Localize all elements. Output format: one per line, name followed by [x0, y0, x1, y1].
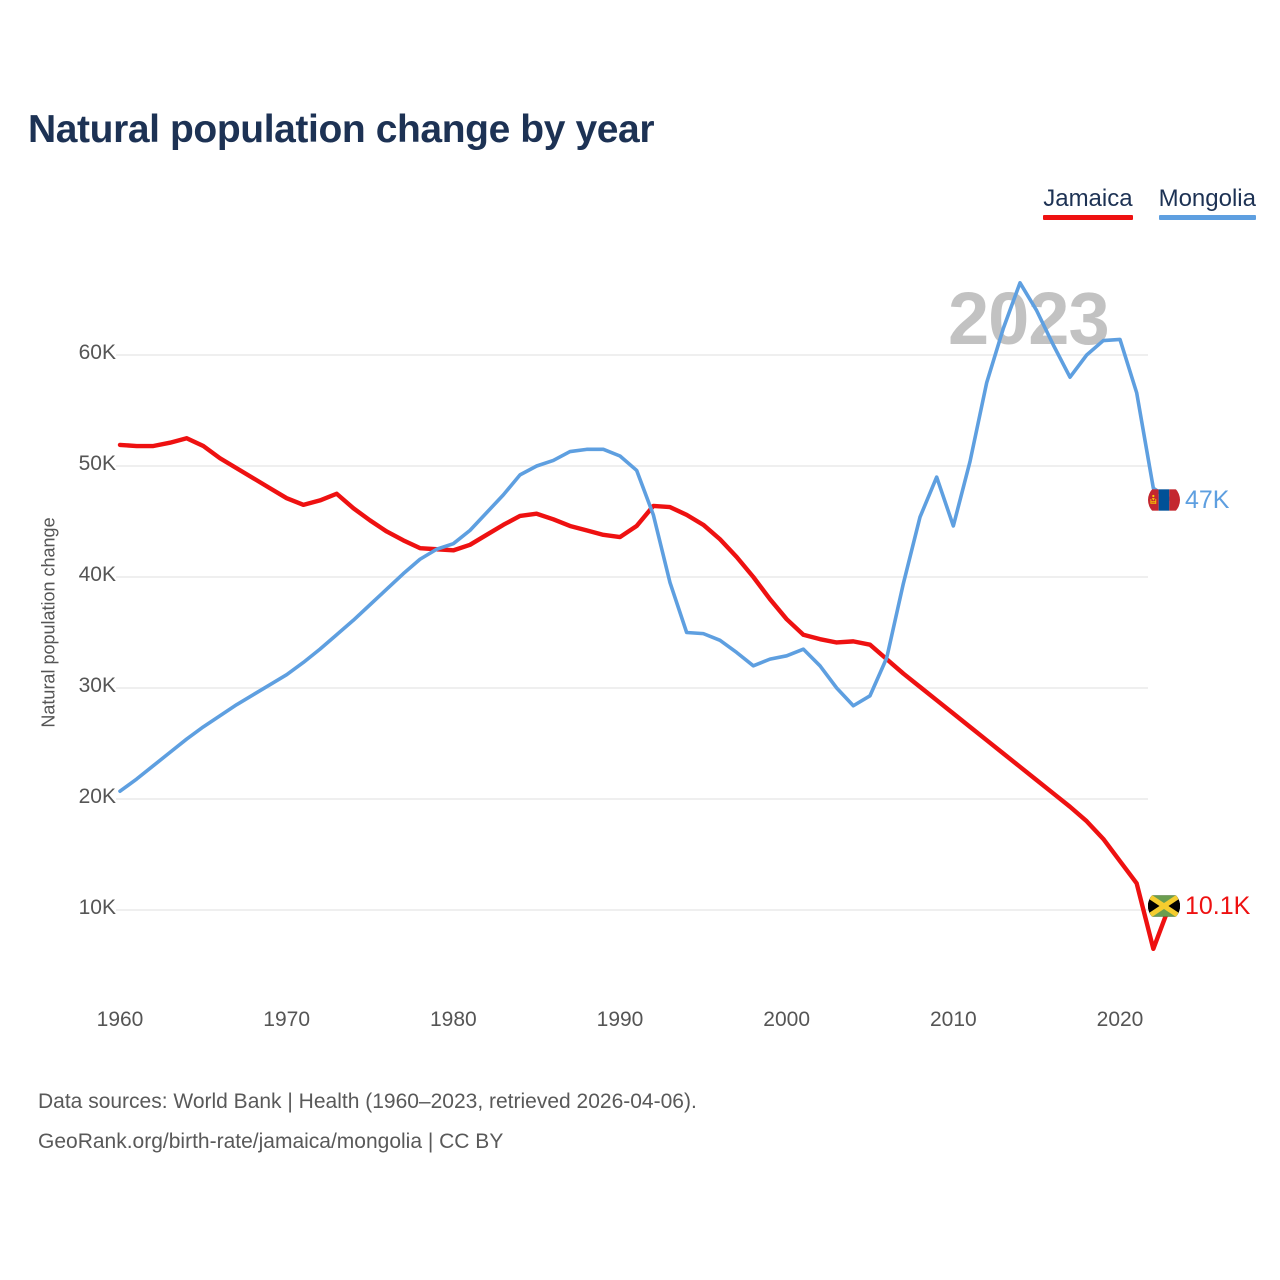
x-tick-2010: 2010	[930, 1008, 977, 1032]
y-tick-20K: 20K	[79, 785, 116, 809]
legend-swatch-jamaica	[1043, 215, 1132, 220]
x-tick-1990: 1990	[597, 1008, 644, 1032]
legend-label-mongolia: Mongolia	[1159, 186, 1256, 212]
footer-attribution: GeoRank.org/birth-rate/jamaica/mongolia …	[38, 1122, 697, 1162]
jamaica-flag-icon	[1148, 890, 1180, 922]
legend-swatch-mongolia	[1159, 215, 1256, 220]
legend-item-mongolia[interactable]: Mongolia	[1159, 186, 1256, 220]
series-line-jamaica	[120, 438, 1170, 949]
page-title: Natural population change by year	[28, 108, 654, 152]
x-axis-ticks: 1960197019801990200020102020	[0, 1008, 1280, 1048]
y-tick-10K: 10K	[79, 896, 116, 920]
y-axis-title: Natural population change	[39, 508, 60, 738]
x-tick-1980: 1980	[430, 1008, 477, 1032]
footer: Data sources: World Bank | Health (1960–…	[38, 1082, 697, 1162]
footer-data-sources: Data sources: World Bank | Health (1960–…	[38, 1082, 697, 1122]
x-tick-2000: 2000	[763, 1008, 810, 1032]
end-value-mongolia: 47K	[1185, 486, 1229, 515]
year-watermark: 2023	[948, 276, 1109, 361]
legend-item-jamaica[interactable]: Jamaica	[1043, 186, 1132, 220]
chart-legend: Jamaica Mongolia	[1043, 186, 1256, 220]
y-tick-50K: 50K	[79, 452, 116, 476]
end-marker-mongolia[interactable]: 47K	[1148, 484, 1229, 516]
x-tick-1970: 1970	[263, 1008, 310, 1032]
y-tick-40K: 40K	[79, 563, 116, 587]
chart-page: Natural population change by year Jamaic…	[0, 0, 1280, 1280]
series-lines	[120, 283, 1170, 949]
end-value-jamaica: 10.1K	[1185, 892, 1250, 921]
y-tick-60K: 60K	[79, 341, 116, 365]
gridlines	[116, 355, 1148, 910]
y-tick-30K: 30K	[79, 674, 116, 698]
x-tick-1960: 1960	[97, 1008, 144, 1032]
end-marker-jamaica[interactable]: 10.1K	[1148, 890, 1250, 922]
legend-label-jamaica: Jamaica	[1043, 186, 1132, 212]
mongolia-flag-icon	[1148, 484, 1180, 516]
x-tick-2020: 2020	[1097, 1008, 1144, 1032]
